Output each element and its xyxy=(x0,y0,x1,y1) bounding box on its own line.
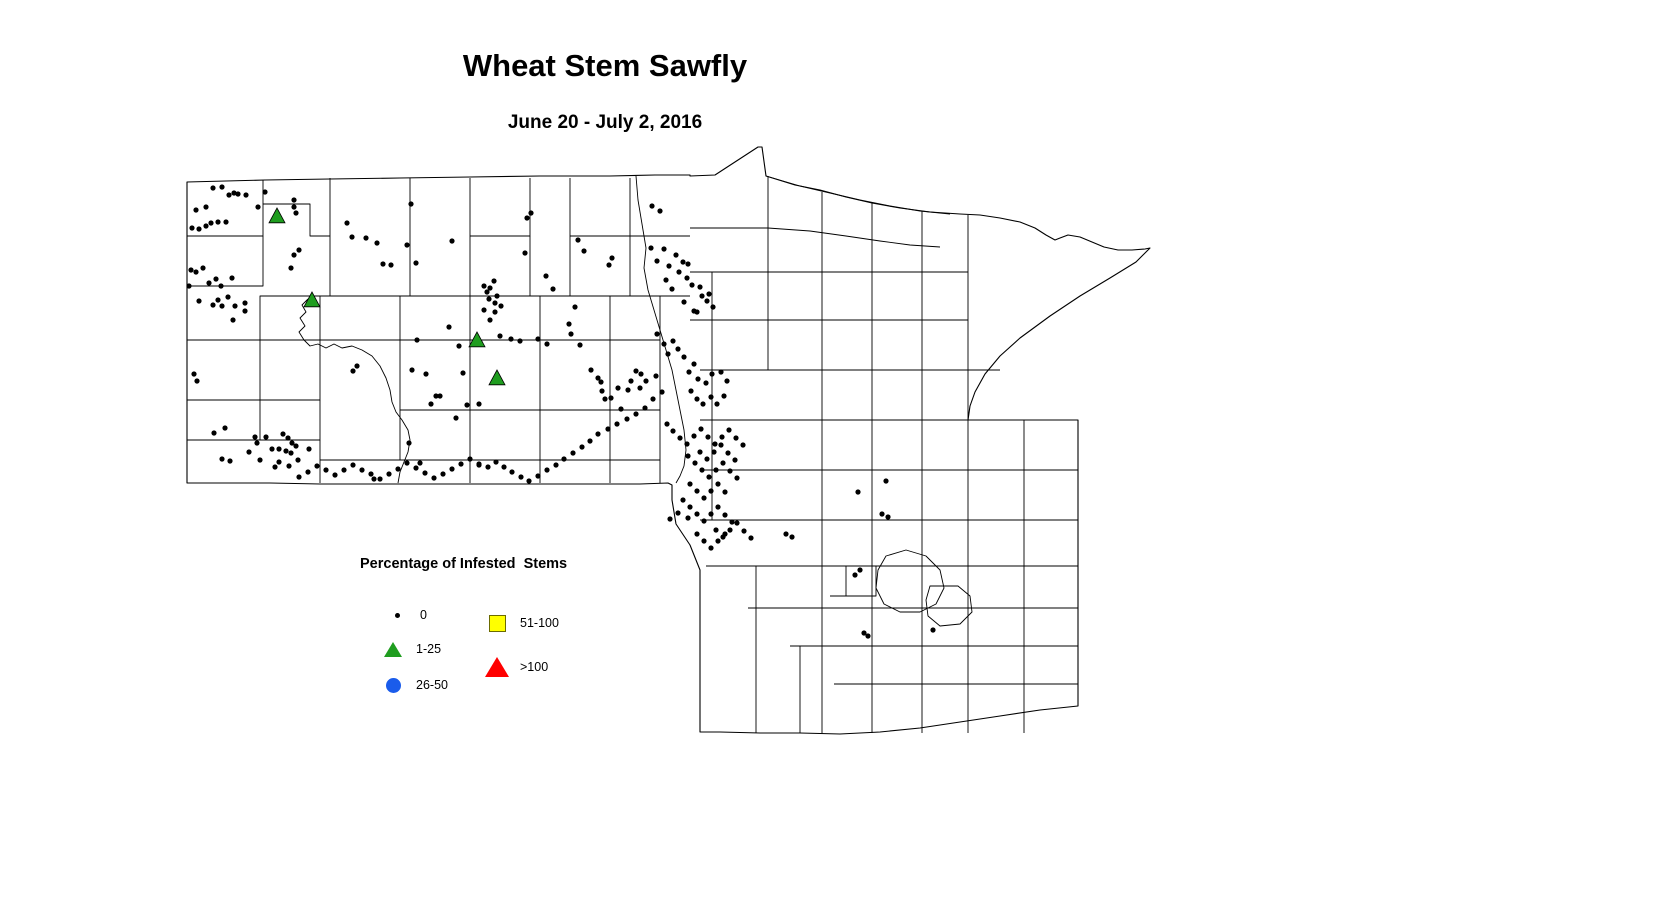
map-point-zero xyxy=(414,337,419,342)
map-point-zero xyxy=(720,460,725,465)
map-point-zero xyxy=(456,343,461,348)
map-point-zero xyxy=(189,225,194,230)
map-point-zero xyxy=(406,440,411,445)
map-point-zero xyxy=(699,467,704,472)
map-point-zero xyxy=(417,460,422,465)
legend-triangle-red-icon xyxy=(486,656,508,678)
map-point-zero xyxy=(242,300,247,305)
map-point-zero xyxy=(517,338,522,343)
legend-label-51-100: 51-100 xyxy=(520,616,559,630)
map-point-zero xyxy=(865,633,870,638)
map-point-zero xyxy=(203,223,208,228)
map-point-zero xyxy=(614,421,619,426)
map-point-zero xyxy=(624,416,629,421)
map-point-zero xyxy=(464,402,469,407)
map-point-zero xyxy=(208,220,213,225)
map-point-zero xyxy=(377,476,382,481)
map-point-zero xyxy=(246,449,251,454)
map-point-zero xyxy=(661,341,666,346)
map-point-zero xyxy=(694,511,699,516)
map-point-zero xyxy=(701,518,706,523)
map-point-zero xyxy=(692,460,697,465)
map-point-zero xyxy=(263,434,268,439)
map-point-zero xyxy=(729,519,734,524)
map-point-zero xyxy=(255,204,260,209)
map-point-zero xyxy=(522,250,527,255)
map-point-zero xyxy=(883,478,888,483)
legend-entry-gt-100[interactable]: >100 xyxy=(486,656,548,678)
map-point-zero xyxy=(685,515,690,520)
map-point-zero xyxy=(498,303,503,308)
map-point-zero xyxy=(709,371,714,376)
map-point-zero xyxy=(633,411,638,416)
map-point-zero xyxy=(715,504,720,509)
map-point-zero xyxy=(222,425,227,430)
map-point-zero xyxy=(741,528,746,533)
legend-dot-icon xyxy=(386,604,408,626)
map-point-zero xyxy=(191,371,196,376)
legend-label-1-25: 1-25 xyxy=(416,642,441,656)
map-point-zero xyxy=(697,284,702,289)
map-point-zero xyxy=(196,226,201,231)
map-point-zero xyxy=(413,465,418,470)
map-point-zero xyxy=(374,240,379,245)
map-point-zero xyxy=(595,431,600,436)
map-point-zero xyxy=(481,283,486,288)
map-point-zero xyxy=(227,458,232,463)
map-point-zero xyxy=(486,296,491,301)
map-point-zero xyxy=(727,468,732,473)
map-point-zero xyxy=(544,341,549,346)
map-point-zero xyxy=(296,474,301,479)
map-point-zero xyxy=(368,471,373,476)
map-point-zero xyxy=(608,395,613,400)
map-point-zero xyxy=(349,234,354,239)
map-point-zero xyxy=(350,368,355,373)
map-point-zero xyxy=(715,481,720,486)
map-point-zero xyxy=(588,367,593,372)
map-point-zero xyxy=(225,294,230,299)
map-point-zero xyxy=(363,235,368,240)
legend-entry-51-100[interactable]: 51-100 xyxy=(486,612,559,634)
map-point-zero xyxy=(727,527,732,532)
map-point-zero xyxy=(711,449,716,454)
map-point-zero xyxy=(581,248,586,253)
map-point-zero xyxy=(681,354,686,359)
map-point-zero xyxy=(637,385,642,390)
map-point-zero xyxy=(710,304,715,309)
map-point-zero xyxy=(783,531,788,536)
map-point-zero xyxy=(704,456,709,461)
map-point-zero xyxy=(642,405,647,410)
map-point-zero xyxy=(684,275,689,280)
map-point-zero xyxy=(675,346,680,351)
map-point-zero xyxy=(577,342,582,347)
map-point-zero xyxy=(721,393,726,398)
map-point-zero xyxy=(701,495,706,500)
legend-label-26-50: 26-50 xyxy=(416,678,448,692)
map-point-zero xyxy=(437,393,442,398)
map-point-zero xyxy=(476,461,481,466)
map-point-zero xyxy=(687,481,692,486)
map-point-zero xyxy=(694,488,699,493)
legend-entry-1-25[interactable]: 1-25 xyxy=(382,638,441,660)
map-point-zero xyxy=(431,475,436,480)
map-point-zero xyxy=(605,426,610,431)
map-point-zero xyxy=(650,396,655,401)
map-point-zero xyxy=(726,427,731,432)
map-point-zero xyxy=(543,273,548,278)
map-point-zero xyxy=(276,459,281,464)
map-point-zero xyxy=(219,184,224,189)
map-point-zero xyxy=(423,371,428,376)
map-point-zero xyxy=(196,298,201,303)
map-point-zero xyxy=(428,401,433,406)
map-point-zero xyxy=(242,308,247,313)
map-point-zero xyxy=(305,469,310,474)
map-point-zero xyxy=(440,471,445,476)
map-point-zero xyxy=(508,336,513,341)
map-point-zero xyxy=(232,303,237,308)
map-point-zero xyxy=(625,387,630,392)
map-point-zero xyxy=(404,460,409,465)
map-point-zero xyxy=(732,457,737,462)
map-point-zero xyxy=(350,462,355,467)
map-point-zero xyxy=(243,192,248,197)
map-point-zero xyxy=(722,512,727,517)
map-figure-page: Wheat Stem Sawfly June 20 - July 2, 2016 xyxy=(0,0,1673,900)
map-point-zero xyxy=(665,351,670,356)
map-point-zero xyxy=(602,396,607,401)
map-point-zero xyxy=(685,453,690,458)
map-point-zero xyxy=(219,456,224,461)
map-point-zero xyxy=(226,192,231,197)
map-point-zero xyxy=(719,434,724,439)
legend-entry-0[interactable]: 0 xyxy=(386,604,427,626)
map-point-zero xyxy=(272,464,277,469)
map-point-zero xyxy=(667,516,672,521)
map-point-zero xyxy=(550,286,555,291)
map-point-zero xyxy=(879,511,884,516)
map-point-zero xyxy=(708,394,713,399)
map-point-zero xyxy=(701,538,706,543)
map-point-zero xyxy=(688,388,693,393)
map-point-zero xyxy=(930,627,935,632)
map-point-zero xyxy=(708,511,713,516)
map-point-zero xyxy=(413,260,418,265)
map-point-zero xyxy=(219,303,224,308)
map-point-zero xyxy=(269,446,274,451)
map-point-zero xyxy=(855,489,860,494)
map-point-zero xyxy=(458,461,463,466)
map-point-1-25 xyxy=(304,292,320,307)
legend-title: Percentage of Infested Stems xyxy=(360,556,567,572)
map-point-zero xyxy=(494,293,499,298)
map-point-zero xyxy=(852,572,857,577)
map-point-zero xyxy=(575,237,580,242)
map-point-zero xyxy=(725,450,730,455)
map-point-zero xyxy=(291,197,296,202)
map-point-zero xyxy=(713,527,718,532)
map-point-zero xyxy=(648,245,653,250)
map-point-zero xyxy=(286,463,291,468)
map-point-zero xyxy=(254,440,259,445)
map-point-zero xyxy=(291,204,296,209)
map-point-zero xyxy=(659,389,664,394)
map-point-zero xyxy=(288,450,293,455)
map-point-zero xyxy=(276,446,281,451)
map-point-zero xyxy=(885,514,890,519)
map-point-zero xyxy=(722,489,727,494)
map-point-zero xyxy=(708,488,713,493)
map-point-zero xyxy=(606,262,611,267)
legend-label-gt-100: >100 xyxy=(520,660,548,674)
map-point-zero xyxy=(697,449,702,454)
map-point-1-25 xyxy=(269,208,285,223)
map-point-zero xyxy=(262,189,267,194)
legend-circle-blue-icon xyxy=(382,674,404,696)
map-point-zero xyxy=(857,567,862,572)
map-point-zero xyxy=(288,265,293,270)
map-point-zero xyxy=(206,280,211,285)
map-point-zero xyxy=(341,467,346,472)
map-point-zero xyxy=(649,203,654,208)
map-point-zero xyxy=(694,531,699,536)
map-point-zero xyxy=(670,338,675,343)
map-point-zero xyxy=(599,388,604,393)
map-point-zero xyxy=(380,261,385,266)
legend-triangle-green-icon xyxy=(382,638,404,660)
map-point-zero xyxy=(386,471,391,476)
map-point-zero xyxy=(657,208,662,213)
legend-label-0: 0 xyxy=(420,608,427,622)
map-point-zero xyxy=(293,443,298,448)
map-point-zero xyxy=(595,375,600,380)
map-point-zero xyxy=(211,430,216,435)
map-point-zero xyxy=(487,285,492,290)
map-point-zero xyxy=(193,269,198,274)
map-point-zero xyxy=(681,299,686,304)
map-point-zero xyxy=(280,431,285,436)
map-point-zero xyxy=(680,497,685,502)
map-point-zero xyxy=(215,219,220,224)
map-point-zero xyxy=(296,247,301,252)
map-point-zero xyxy=(492,300,497,305)
map-point-zero xyxy=(691,308,696,313)
map-point-zero xyxy=(293,210,298,215)
map-point-zero xyxy=(722,531,727,536)
map-point-zero xyxy=(677,435,682,440)
map-point-zero xyxy=(714,401,719,406)
map-point-zero xyxy=(485,464,490,469)
map-point-zero xyxy=(553,462,558,467)
map-point-zero xyxy=(673,252,678,257)
map-point-zero xyxy=(285,435,290,440)
map-point-zero xyxy=(587,438,592,443)
map-point-zero xyxy=(526,478,531,483)
map-point-zero xyxy=(186,283,191,288)
map-point-zero xyxy=(628,378,633,383)
legend-entry-26-50[interactable]: 26-50 xyxy=(382,674,448,696)
map-point-zero xyxy=(680,259,685,264)
map-point-zero xyxy=(332,472,337,477)
map-point-zero xyxy=(654,258,659,263)
map-point-zero xyxy=(686,369,691,374)
map-point-1-25 xyxy=(489,370,505,385)
map-point-zero xyxy=(323,467,328,472)
map-point-zero xyxy=(453,415,458,420)
map-point-zero xyxy=(664,421,669,426)
map-point-zero xyxy=(638,371,643,376)
map-point-zero xyxy=(734,520,739,525)
map-point-zero xyxy=(487,317,492,322)
map-point-zero xyxy=(689,282,694,287)
map-point-zero xyxy=(481,307,486,312)
map-point-zero xyxy=(704,298,709,303)
map-point-zero xyxy=(609,255,614,260)
map-point-zero xyxy=(230,317,235,322)
map-point-zero xyxy=(568,331,573,336)
map-point-zero xyxy=(712,441,717,446)
map-point-zero xyxy=(700,401,705,406)
map-point-zero xyxy=(518,474,523,479)
map-point-zero xyxy=(713,467,718,472)
map-point-zero xyxy=(492,309,497,314)
map-point-zero xyxy=(706,474,711,479)
map-point-zero xyxy=(687,504,692,509)
map-point-zero xyxy=(354,363,359,368)
map-point-zero xyxy=(561,456,566,461)
map-point-zero xyxy=(509,469,514,474)
map-point-zero xyxy=(661,246,666,251)
map-point-zero xyxy=(663,277,668,282)
map-point-zero xyxy=(210,185,215,190)
map-point-zero xyxy=(359,467,364,472)
map-point-zero xyxy=(449,238,454,243)
map-point-zero xyxy=(388,262,393,267)
map-point-zero xyxy=(395,466,400,471)
map-point-zero xyxy=(344,220,349,225)
map-point-zero xyxy=(295,457,300,462)
map-point-zero xyxy=(491,278,496,283)
map-point-zero xyxy=(291,252,296,257)
map-point-zero xyxy=(467,456,472,461)
map-point-zero xyxy=(570,450,575,455)
map-point-zero xyxy=(715,538,720,543)
map-point-zero xyxy=(579,444,584,449)
map-point-zero xyxy=(194,378,199,383)
map-point-zero xyxy=(203,204,208,209)
map-point-zero xyxy=(371,476,376,481)
map-point-zero xyxy=(706,291,711,296)
map-point-zero xyxy=(708,545,713,550)
map-point-zero xyxy=(497,333,502,338)
map-point-zero xyxy=(408,201,413,206)
map-point-zero xyxy=(257,457,262,462)
map-point-zero xyxy=(449,466,454,471)
map-point-zero xyxy=(218,283,223,288)
map-point-zero xyxy=(670,428,675,433)
map-point-zero xyxy=(215,297,220,302)
map-point-zero xyxy=(724,378,729,383)
map-point-zero xyxy=(694,396,699,401)
map-point-zero xyxy=(618,406,623,411)
map-point-zero xyxy=(446,324,451,329)
map-point-zero xyxy=(718,369,723,374)
map-point-zero xyxy=(572,304,577,309)
map-point-zero xyxy=(229,275,234,280)
map-point-zero xyxy=(615,385,620,390)
map-point-zero xyxy=(685,261,690,266)
map-legend: Percentage of Infested Stems 0 1-25 26-5… xyxy=(358,552,688,712)
map-point-zero xyxy=(643,378,648,383)
map-point-zero xyxy=(676,269,681,274)
map-point-zero xyxy=(703,380,708,385)
map-point-zero xyxy=(283,448,288,453)
map-point-zero xyxy=(223,219,228,224)
map-point-zero xyxy=(698,426,703,431)
map-point-zero xyxy=(528,210,533,215)
map-point-zero xyxy=(409,367,414,372)
map-point-zero xyxy=(748,535,753,540)
map-point-zero xyxy=(213,276,218,281)
map-vector-layer xyxy=(0,0,1673,900)
map-point-zero xyxy=(691,433,696,438)
map-point-zero xyxy=(789,534,794,539)
map-point-zero xyxy=(535,336,540,341)
map-point-zero xyxy=(422,470,427,475)
map-point-zero xyxy=(740,442,745,447)
map-point-zero xyxy=(653,373,658,378)
map-point-zero xyxy=(699,293,704,298)
map-point-zero xyxy=(460,370,465,375)
map-point-zero xyxy=(193,207,198,212)
map-point-zero xyxy=(544,467,549,472)
map-point-zero xyxy=(493,459,498,464)
map-point-1-25 xyxy=(469,332,485,347)
map-point-zero xyxy=(404,242,409,247)
map-point-zero xyxy=(691,361,696,366)
map-point-zero xyxy=(252,434,257,439)
map-point-zero xyxy=(314,463,319,468)
map-point-zero xyxy=(734,475,739,480)
map-point-zero xyxy=(476,401,481,406)
map-point-zero xyxy=(666,263,671,268)
map-point-zero xyxy=(633,368,638,373)
map-point-zero xyxy=(501,464,506,469)
map-point-zero xyxy=(524,215,529,220)
map-point-zero xyxy=(188,267,193,272)
map-point-zero xyxy=(566,321,571,326)
map-point-zero xyxy=(684,441,689,446)
map-point-zero xyxy=(306,446,311,451)
map-point-zero xyxy=(733,435,738,440)
map-point-zero xyxy=(210,302,215,307)
map-point-zero xyxy=(535,473,540,478)
map-point-zero xyxy=(695,376,700,381)
map-point-zero xyxy=(200,265,205,270)
map-point-zero xyxy=(718,442,723,447)
map-canvas xyxy=(0,0,1673,900)
map-point-zero xyxy=(654,331,659,336)
map-point-zero xyxy=(231,190,236,195)
legend-square-yellow-icon xyxy=(486,612,508,634)
map-point-zero xyxy=(675,510,680,515)
map-point-zero xyxy=(705,434,710,439)
map-point-zero xyxy=(669,286,674,291)
